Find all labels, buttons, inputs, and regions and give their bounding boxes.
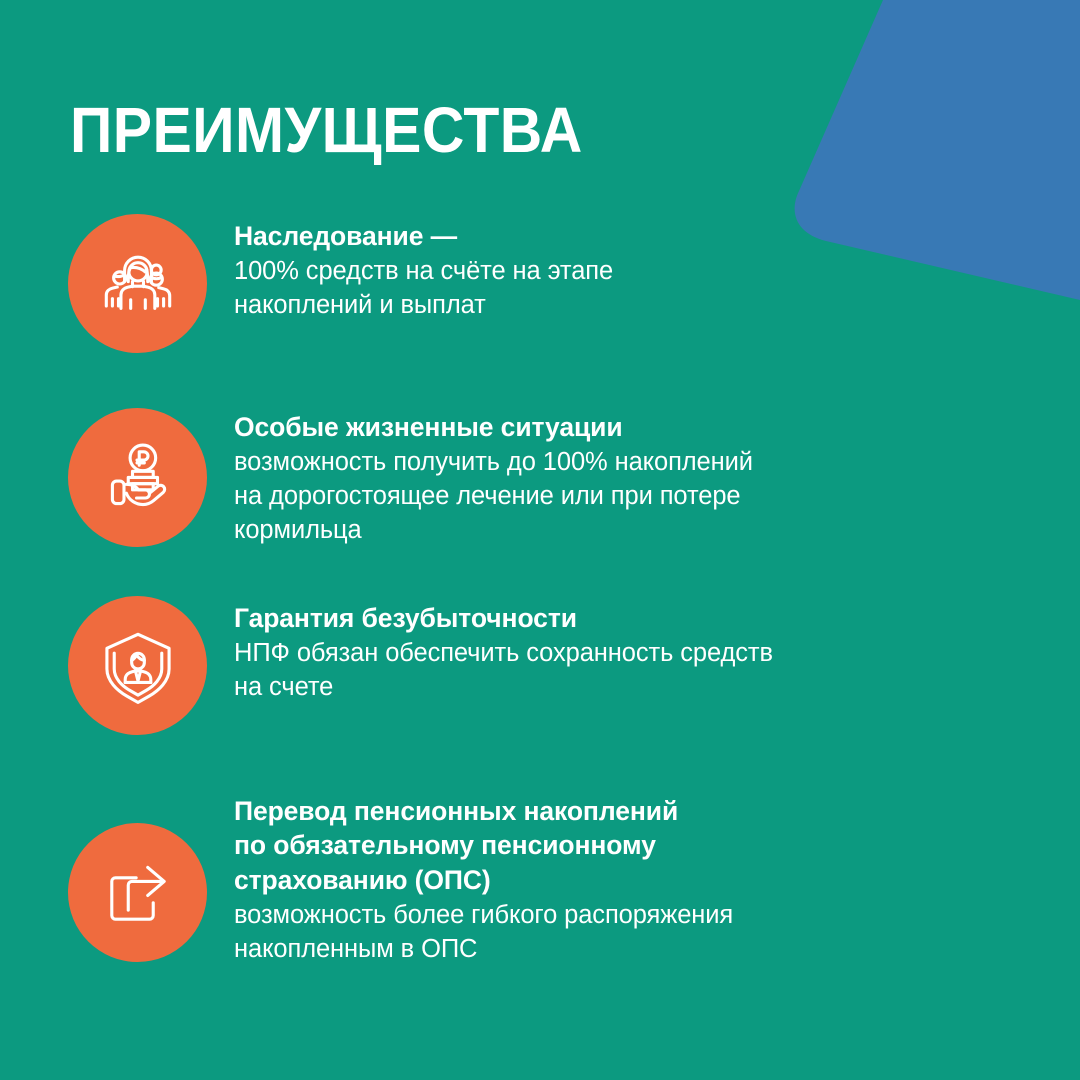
benefit-item: Перевод пенсионных накоплений по обязате…	[0, 794, 1080, 967]
benefit-item: Гарантия безубыточности НПФ обязан обесп…	[0, 594, 1080, 735]
family-group-icon	[99, 245, 177, 323]
benefit-text: Перевод пенсионных накоплений по обязате…	[234, 794, 1080, 967]
benefit-heading: Перевод пенсионных накоплений по обязате…	[234, 794, 1080, 897]
benefit-text: Особые жизненные ситуации возможность по…	[234, 404, 1080, 548]
benefit-icon-badge	[68, 596, 207, 735]
poster-root: ПРЕИМУЩЕСТВА	[0, 0, 1080, 1080]
benefit-body: возможность более гибкого распоряжения н…	[234, 899, 1080, 967]
benefit-heading: Особые жизненные ситуации	[234, 410, 1080, 444]
page-title: ПРЕИМУЩЕСТВА	[70, 98, 583, 162]
benefit-item: Особые жизненные ситуации возможность по…	[0, 404, 1080, 548]
benefit-icon-badge	[68, 408, 207, 547]
benefit-body: НПФ обязан обеспечить сохранность средст…	[234, 637, 1080, 705]
export-arrow-box-icon	[99, 854, 177, 932]
hand-holding-ruble-coins-icon	[99, 439, 177, 517]
benefit-body: 100% средств на счёте на этапе накоплени…	[234, 255, 1080, 323]
benefit-item: Наследование — 100% средств на счёте на …	[0, 214, 1080, 353]
benefit-text: Наследование — 100% средств на счёте на …	[234, 214, 1080, 323]
shield-person-icon	[99, 627, 177, 705]
benefit-text: Гарантия безубыточности НПФ обязан обесп…	[234, 594, 1080, 705]
benefit-icon-badge	[68, 823, 207, 962]
benefit-icon-badge	[68, 214, 207, 353]
benefit-body: возможность получить до 100% накоплений …	[234, 446, 1080, 548]
benefit-heading: Наследование —	[234, 219, 1080, 253]
benefit-heading: Гарантия безубыточности	[234, 601, 1080, 635]
